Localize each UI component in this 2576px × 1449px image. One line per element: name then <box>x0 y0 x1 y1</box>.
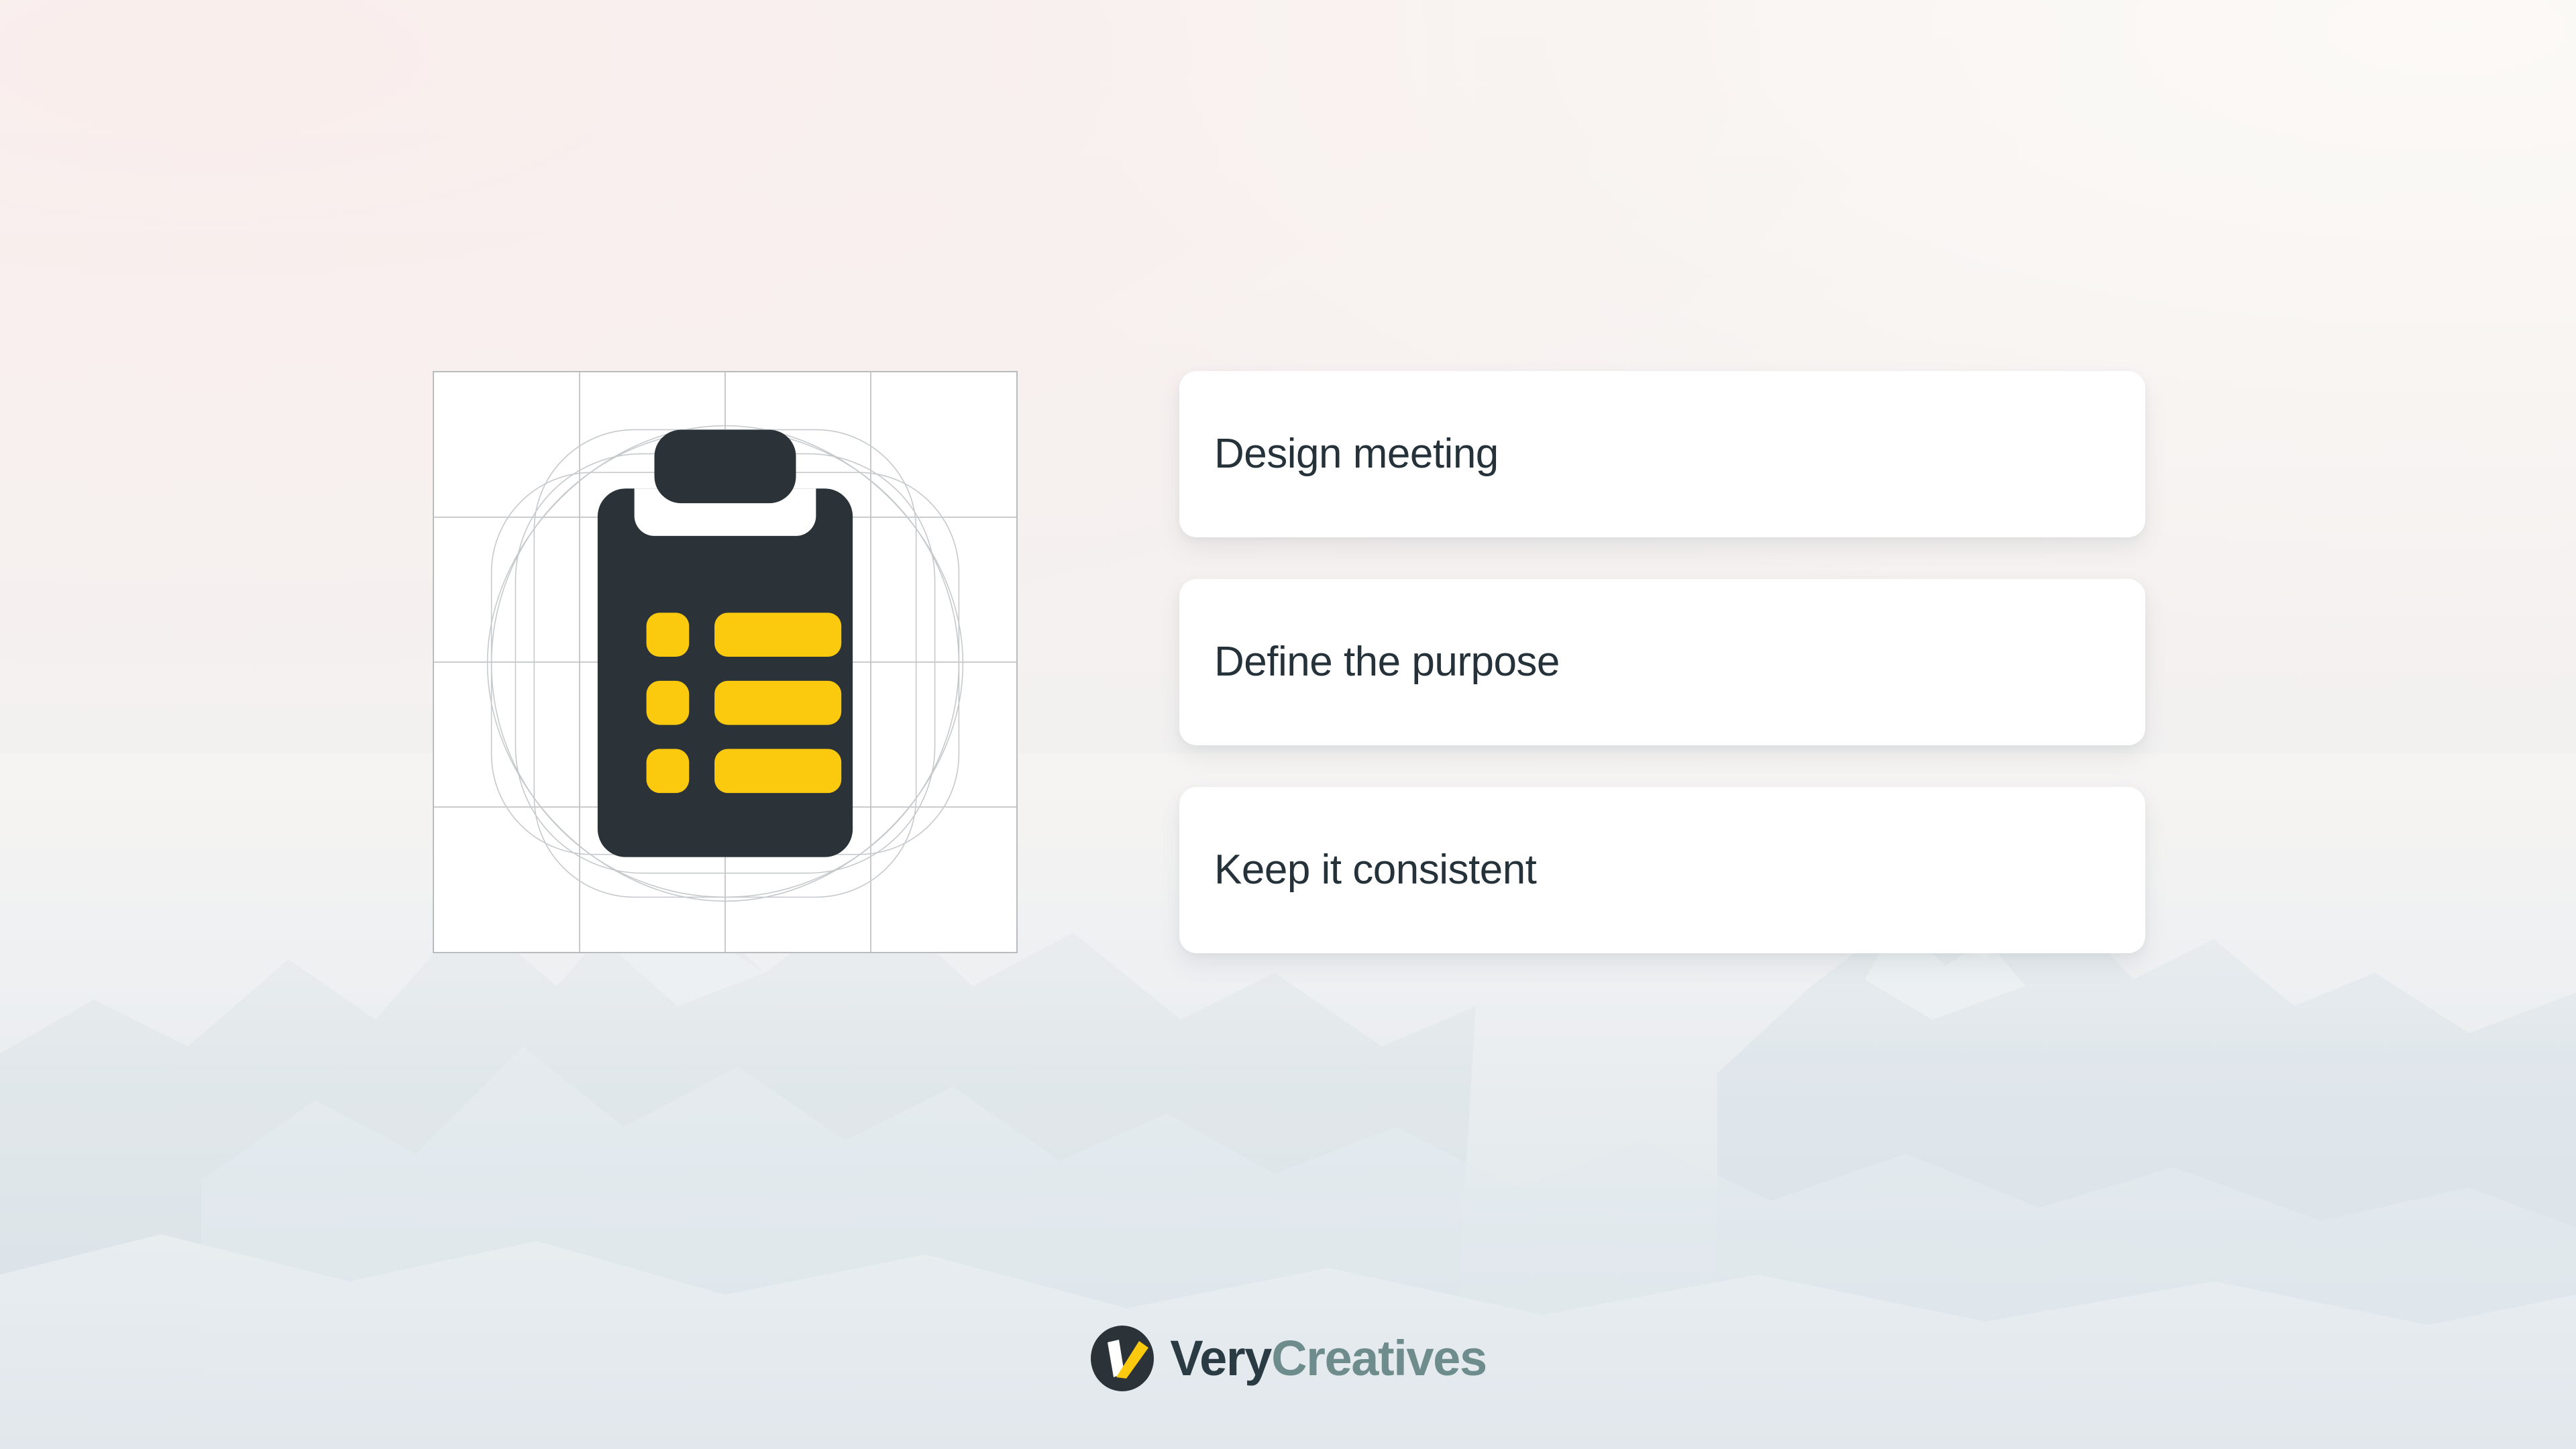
brand-wordmark: VeryCreatives <box>1170 1334 1486 1383</box>
card-label: Keep it consistent <box>1214 847 1536 893</box>
brand-logo[interactable]: VeryCreatives <box>0 1325 2576 1392</box>
card-label: Design meeting <box>1214 431 1499 477</box>
slide-canvas: Design meeting Define the purpose Keep i… <box>0 0 2576 1449</box>
card-keep-consistent[interactable]: Keep it consistent <box>1179 787 2145 953</box>
brand-word-very: Very <box>1170 1330 1271 1386</box>
card-label: Define the purpose <box>1214 639 1560 685</box>
verycreatives-v-mark-icon <box>1089 1325 1155 1392</box>
card-design-meeting[interactable]: Design meeting <box>1179 371 2145 537</box>
card-define-purpose[interactable]: Define the purpose <box>1179 579 2145 745</box>
agenda-card-list: Design meeting Define the purpose Keep i… <box>1179 371 2145 953</box>
clipboard-checklist-icon <box>434 372 1016 952</box>
icon-design-grid-panel <box>433 371 1018 953</box>
brand-word-creatives: Creatives <box>1271 1330 1487 1386</box>
